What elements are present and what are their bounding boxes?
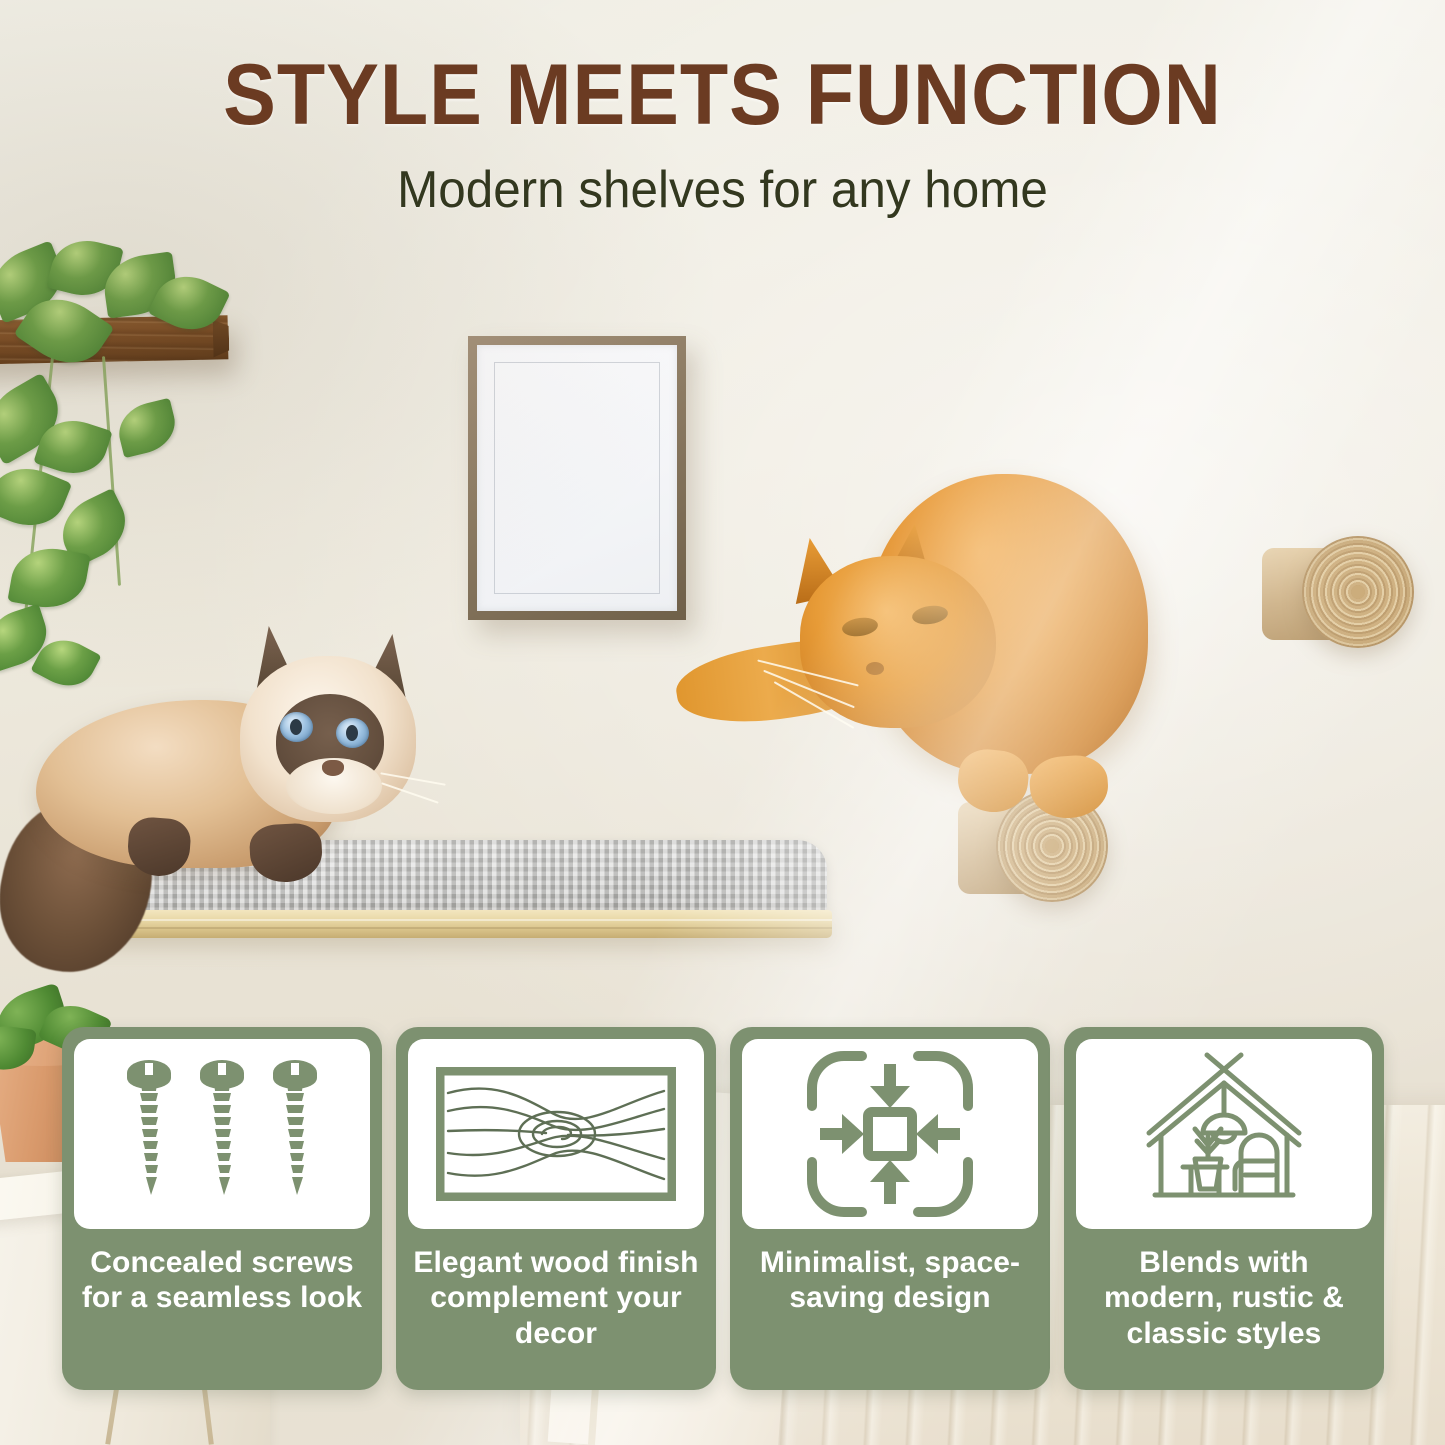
picture-frame-mat [477,345,677,611]
cat-nose [866,662,884,675]
pothos-leaf [113,398,181,459]
cat-head [800,556,996,728]
feature-card-label: Blends with modern, rustic & classic sty… [1076,1245,1372,1351]
cat-nose [322,760,344,776]
cat-paw-right [249,822,324,884]
home-interior-icon [1129,1049,1319,1219]
feature-card-style-blend[interactable]: Blends with modern, rustic & classic sty… [1064,1027,1384,1390]
sisal-step-upper [1262,536,1414,652]
space-saving-compress-icon [804,1048,976,1220]
cat-eye-left [280,712,313,742]
feature-card-label: Elegant wood finish complement your deco… [408,1245,704,1351]
product-marketing-image: STYLE MEETS FUNCTION Modern shelves for … [0,0,1445,1445]
feature-card-concealed-screws[interactable]: Concealed screws for a seamless look [62,1027,382,1390]
feature-card-wood-finish[interactable]: Elegant wood finish complement your deco… [396,1027,716,1390]
cat-siamese [8,628,438,973]
header: STYLE MEETS FUNCTION Modern shelves for … [0,52,1445,220]
feature-card-space-saving[interactable]: Minimalist, space-saving design [730,1027,1050,1390]
wood-grain-icon [436,1067,676,1201]
picture-frame [468,336,686,620]
page-title: STYLE MEETS FUNCTION [58,52,1387,138]
icon-container [408,1039,704,1229]
feature-card-label: Concealed screws for a seamless look [74,1245,370,1316]
cat-eye-right [336,718,369,748]
icon-container [1076,1039,1372,1229]
icon-container [742,1039,1038,1229]
page-subtitle: Modern shelves for any home [36,160,1409,220]
cat-orange [690,466,1160,866]
cat-paw-right [1028,753,1110,820]
three-screws-icon [117,1059,327,1209]
feature-card-label: Minimalist, space-saving design [742,1245,1038,1316]
sisal-rope-face [1302,536,1414,648]
icon-container [74,1039,370,1229]
feature-card-list: Concealed screws for a seamless look [62,1027,1384,1390]
pothos-leaf [7,542,90,614]
